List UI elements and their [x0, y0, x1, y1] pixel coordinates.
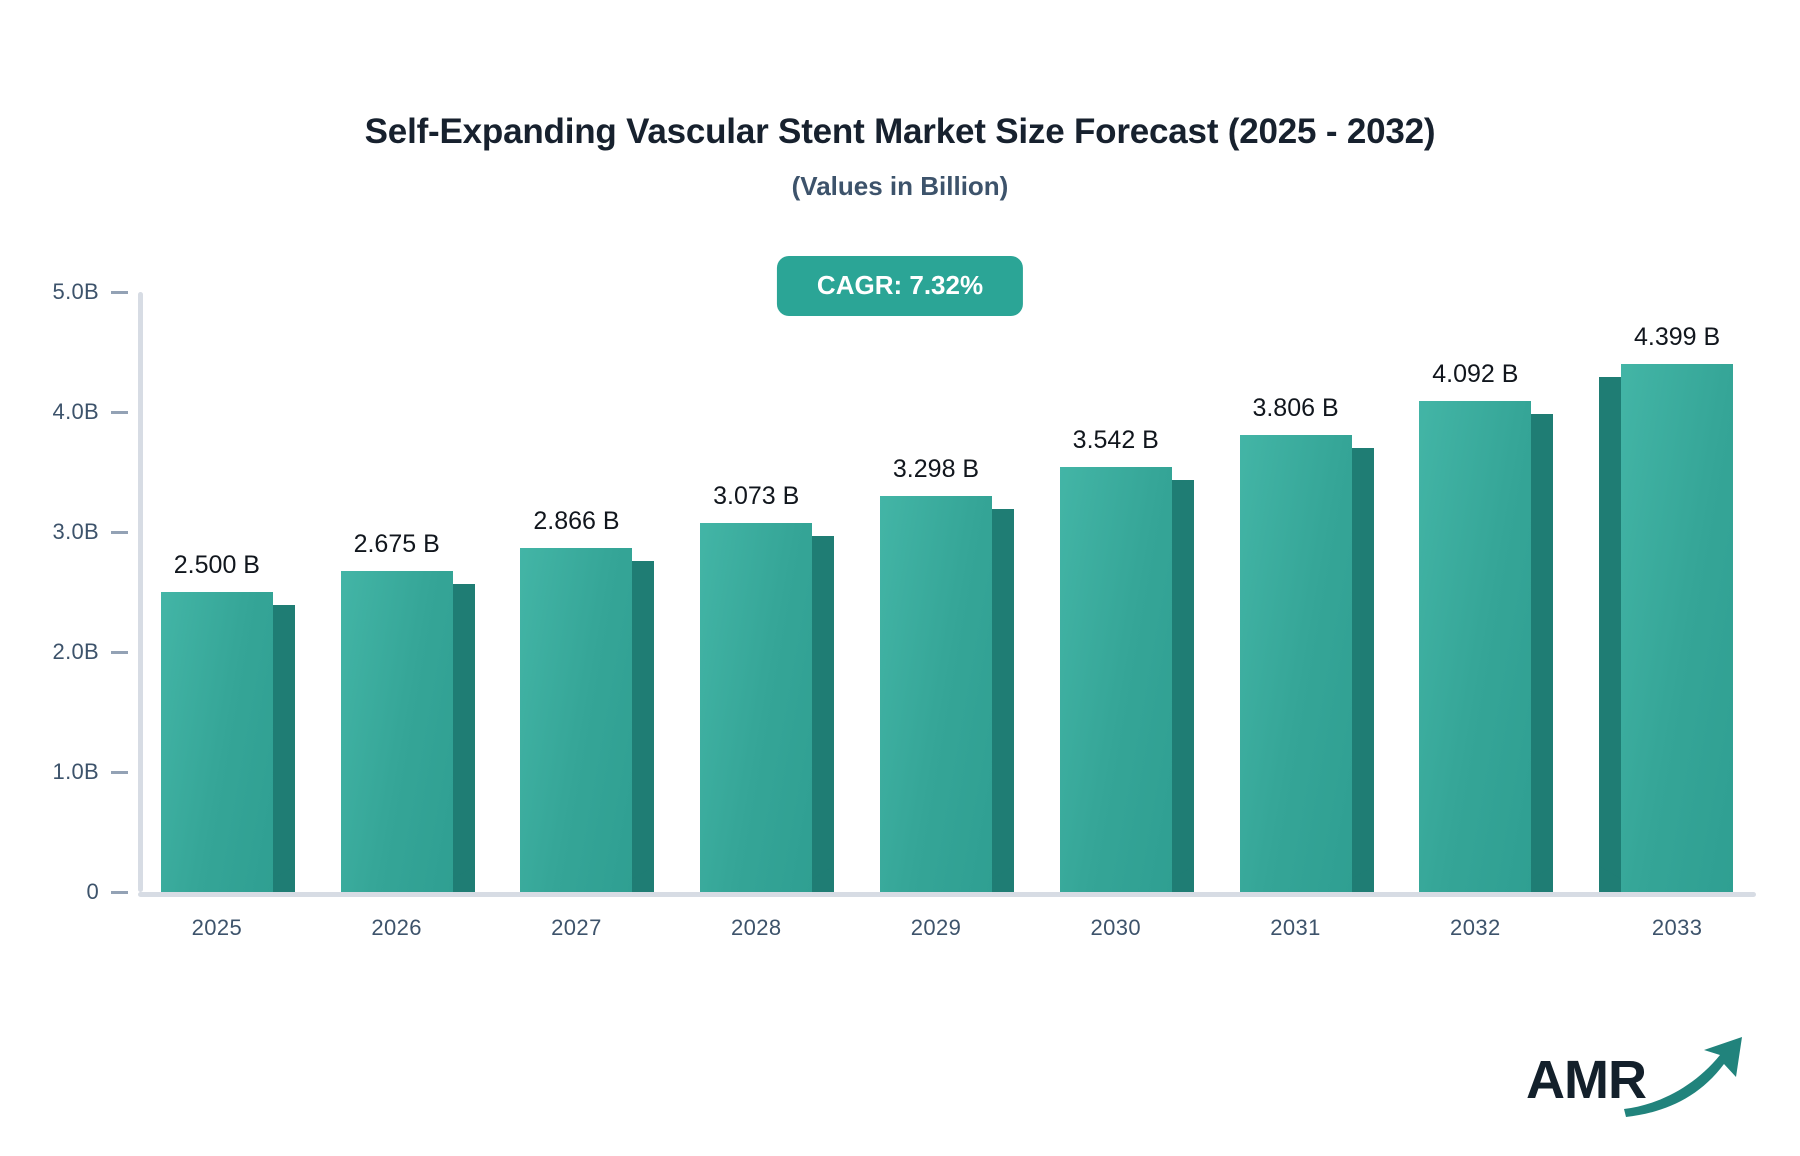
x-axis-label: 2033 [1652, 915, 1703, 941]
bar-body [1060, 467, 1194, 892]
bar[interactable]: 2.866 B [520, 548, 654, 892]
x-axis-line [138, 892, 1756, 897]
x-axis-label: 2029 [911, 915, 962, 941]
bar-front-face [1621, 364, 1733, 892]
bar-front-face [700, 523, 812, 892]
bar-front-face [1060, 467, 1172, 892]
bar-body [1599, 364, 1733, 892]
x-axis-label: 2027 [551, 915, 602, 941]
bar-body [880, 496, 1014, 892]
bar-side-face [992, 509, 1014, 892]
bar-value-label: 4.092 B [1432, 360, 1518, 389]
y-axis-tick-label: 0 [86, 879, 99, 905]
x-axis-label: 2026 [371, 915, 422, 941]
bar-value-label: 3.073 B [713, 482, 799, 511]
y-axis-tick-label: 5.0B [53, 279, 99, 305]
y-axis-tick-mark [111, 771, 128, 774]
bar[interactable]: 3.298 B [880, 496, 1014, 892]
x-axis-label: 2031 [1270, 915, 1321, 941]
y-axis: 5.0B4.0B3.0B2.0B1.0B0 [0, 292, 128, 892]
bar-value-label: 2.866 B [533, 507, 619, 536]
bar[interactable]: 2.675 B [341, 571, 475, 892]
bar[interactable]: 3.073 B [700, 523, 834, 892]
bar[interactable]: 4.092 B [1419, 401, 1553, 892]
y-axis-tick: 0 [86, 879, 128, 905]
bar-value-label: 3.542 B [1073, 426, 1159, 455]
bar-side-face [632, 561, 654, 892]
bar-front-face [341, 571, 453, 892]
bar-front-face [1240, 435, 1352, 892]
x-axis-labels: 202520262027202820292030203120322033 [138, 915, 1756, 949]
bar-side-face [453, 584, 475, 892]
bar[interactable]: 3.806 B [1240, 435, 1374, 892]
growth-arrow-icon [1620, 1031, 1750, 1122]
bar[interactable]: 2.500 B [161, 592, 295, 892]
x-axis-label: 2025 [192, 915, 243, 941]
bar-side-face [1531, 414, 1553, 892]
bar-side-face [1172, 480, 1194, 892]
y-axis-tick: 1.0B [53, 759, 128, 785]
amr-logo: AMR [1526, 1031, 1750, 1128]
bar[interactable]: 3.542 B [1060, 467, 1194, 892]
y-axis-tick-label: 2.0B [53, 639, 99, 665]
x-axis-label: 2030 [1090, 915, 1141, 941]
bar-body [161, 592, 295, 892]
x-axis-label: 2028 [731, 915, 782, 941]
bar-body [520, 548, 654, 892]
y-axis-tick: 3.0B [53, 519, 128, 545]
y-axis-tick-label: 1.0B [53, 759, 99, 785]
bar-front-face [1419, 401, 1531, 892]
title-block: Self-Expanding Vascular Stent Market Siz… [0, 112, 1800, 202]
x-axis-label: 2032 [1450, 915, 1501, 941]
y-axis-tick-mark [111, 531, 128, 534]
bar-body [1419, 401, 1553, 892]
y-axis-tick-mark [111, 651, 128, 654]
bar-body [341, 571, 475, 892]
bar-front-face [520, 548, 632, 892]
bar-side-face [273, 605, 295, 892]
chart-subtitle: (Values in Billion) [0, 171, 1800, 202]
bar-body [1240, 435, 1374, 892]
y-axis-tick-mark [111, 411, 128, 414]
bar-value-label: 3.298 B [893, 455, 979, 484]
bar-value-label: 2.500 B [174, 551, 260, 580]
bar-front-face [880, 496, 992, 892]
y-axis-tick-mark [111, 291, 128, 294]
bar-value-label: 2.675 B [354, 530, 440, 559]
bars-layer: 2.500 B2.675 B2.866 B3.073 B3.298 B3.542… [138, 292, 1756, 892]
bar[interactable]: 4.399 B [1599, 364, 1733, 892]
bar-side-face [1599, 377, 1621, 892]
y-axis-tick-label: 4.0B [53, 399, 99, 425]
y-axis-tick: 2.0B [53, 639, 128, 665]
bar-side-face [1352, 448, 1374, 892]
y-axis-tick: 5.0B [53, 279, 128, 305]
y-axis-tick: 4.0B [53, 399, 128, 425]
bar-value-label: 4.399 B [1634, 323, 1720, 352]
bar-body [700, 523, 834, 892]
y-axis-tick-label: 3.0B [53, 519, 99, 545]
y-axis-tick-mark [111, 891, 128, 894]
bar-value-label: 3.806 B [1252, 394, 1338, 423]
page-title: Self-Expanding Vascular Stent Market Siz… [0, 112, 1800, 152]
bar-side-face [812, 536, 834, 892]
bar-front-face [161, 592, 273, 892]
chart-container: Self-Expanding Vascular Stent Market Siz… [0, 0, 1800, 1156]
